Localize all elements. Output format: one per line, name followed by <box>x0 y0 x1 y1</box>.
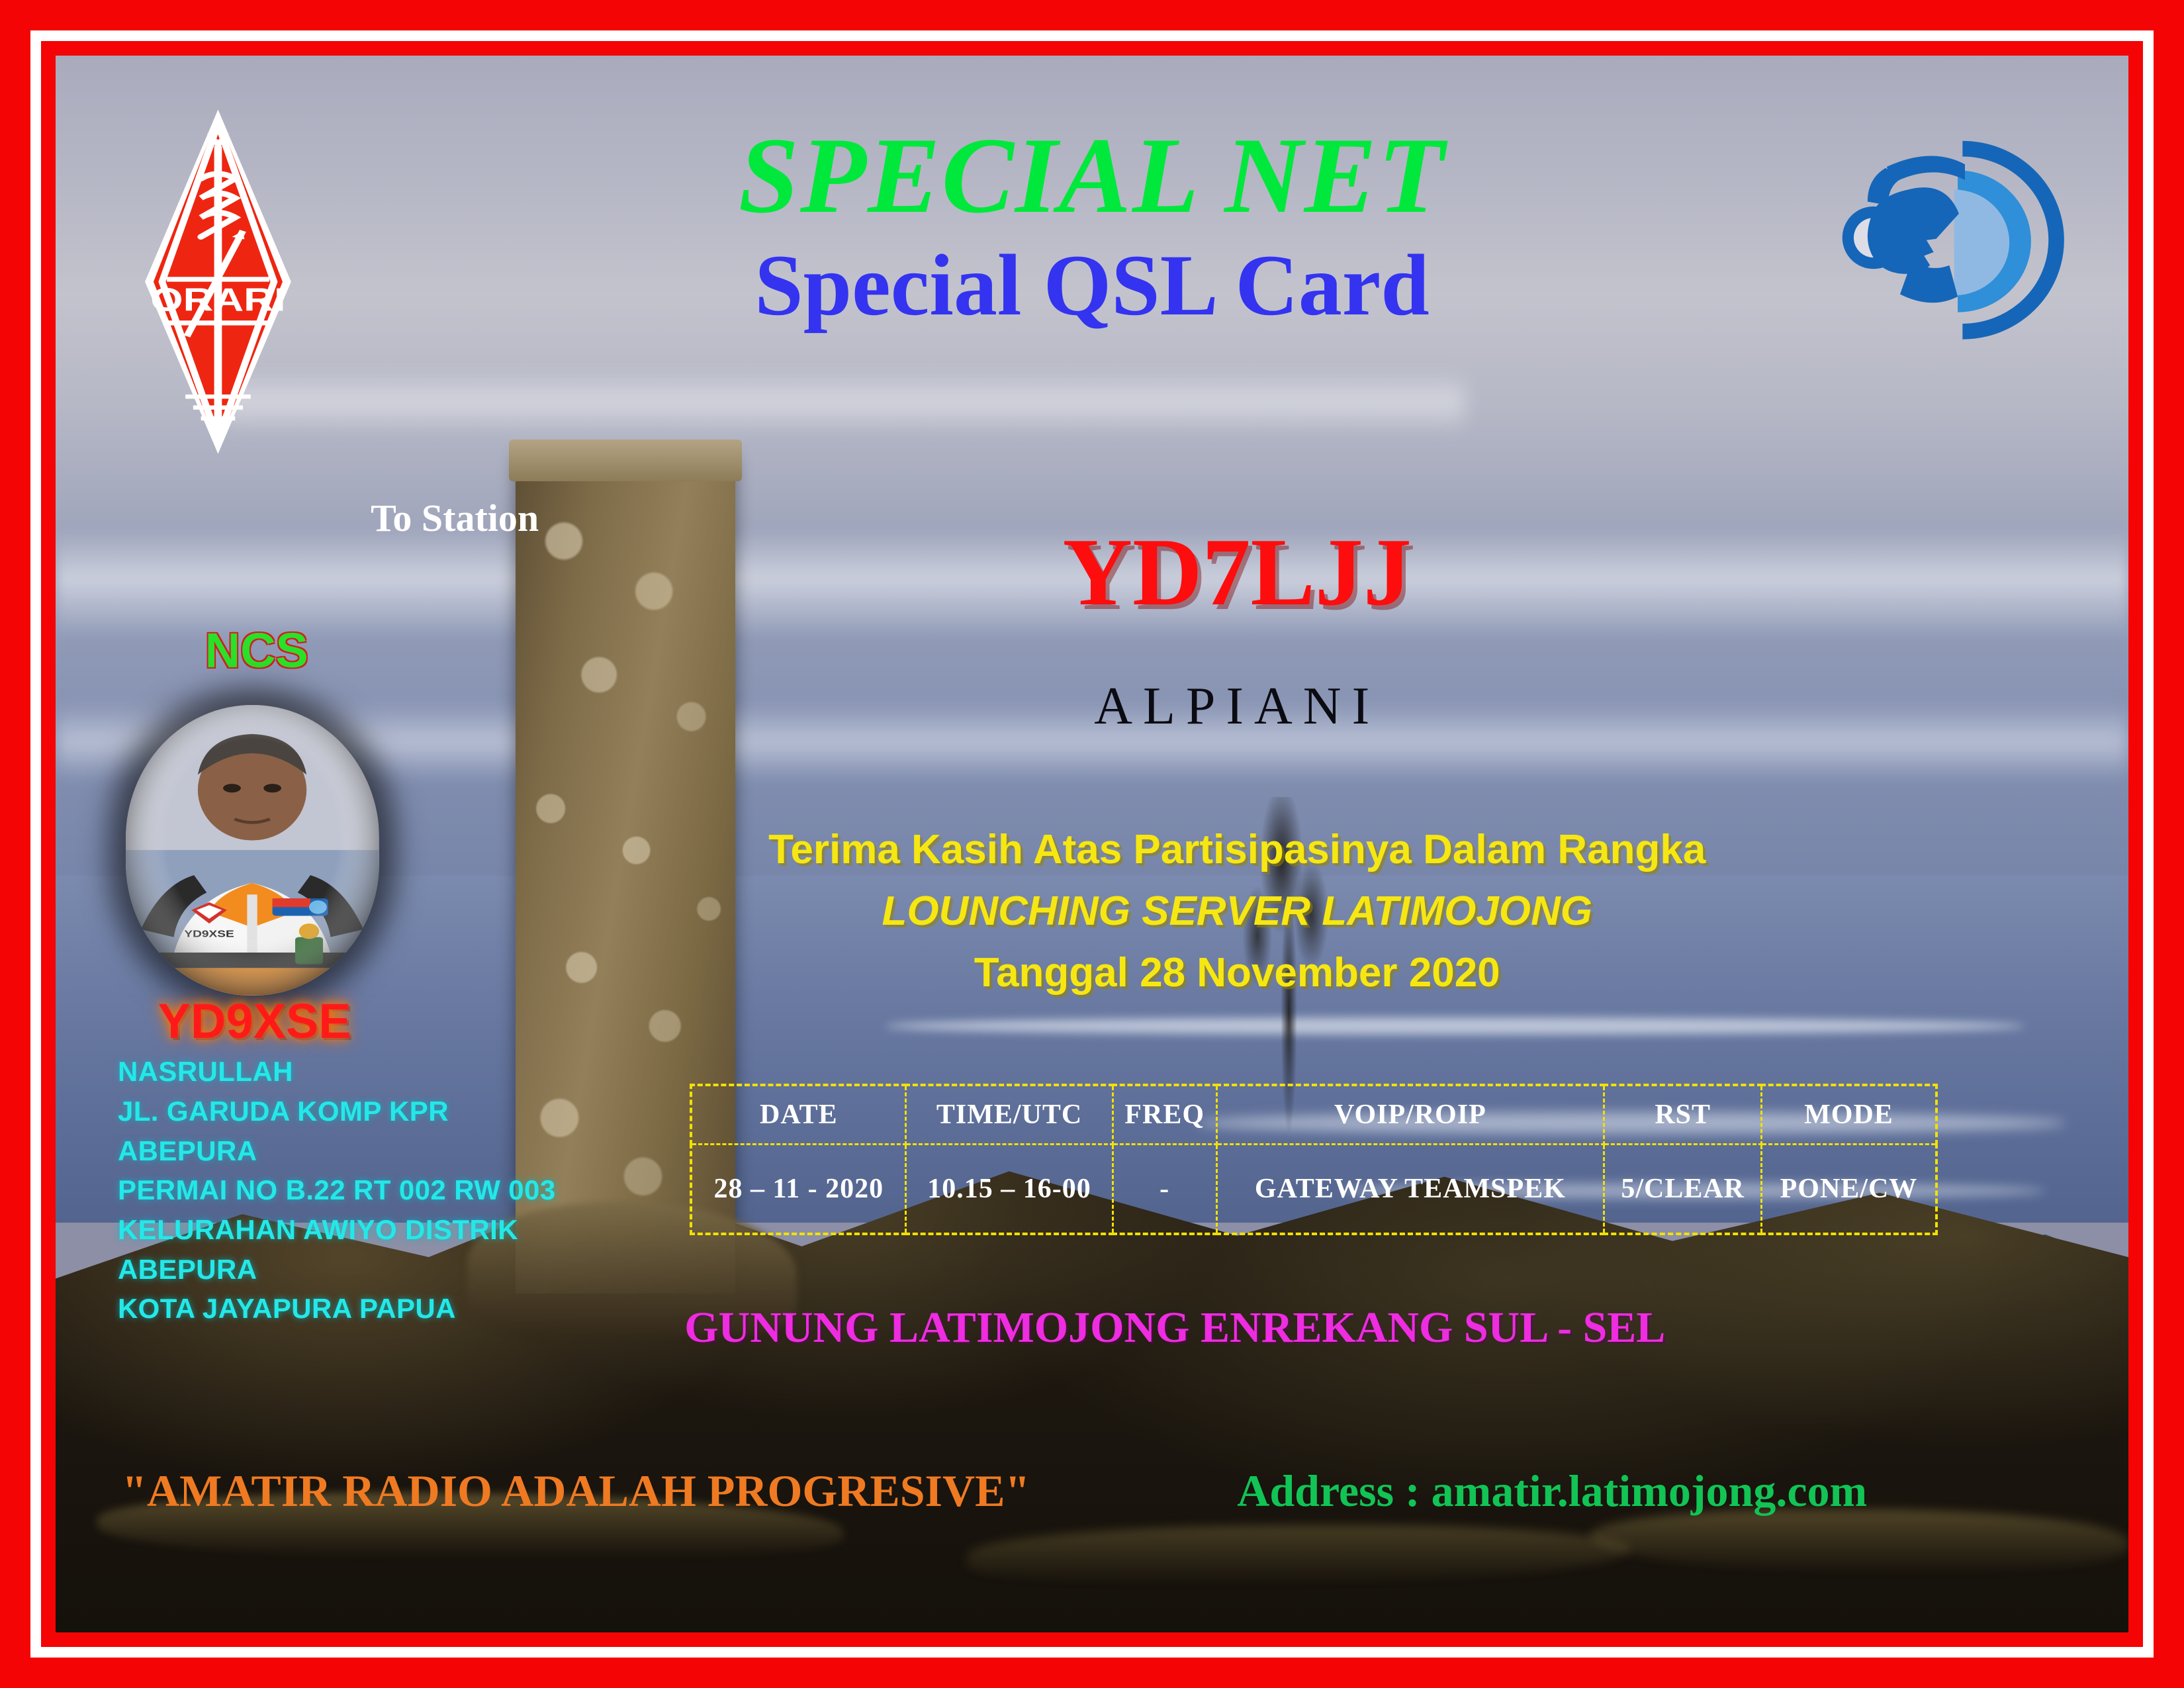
address-line: NASRULLAH <box>118 1052 657 1092</box>
address-line: PERMAI NO B.22 RT 002 RW 003 <box>118 1170 657 1210</box>
cell-rst: 5/CLEAR <box>1604 1145 1762 1234</box>
table-row: 28 – 11 - 2020 10.15 – 16-00 - GATEWAY T… <box>691 1145 1936 1234</box>
recipient-callsign: YD7LJJ <box>802 524 1672 620</box>
card-subtitle-special-qsl: Special QSL Card <box>56 242 2128 329</box>
qso-details-table: DATE TIME/UTC FREQ VOIP/ROIP RST MODE 28… <box>690 1084 1937 1235</box>
cell-mode: PONE/CW <box>1762 1145 1936 1234</box>
recipient-operator-name: ALPIANI <box>802 680 1672 733</box>
event-line-2: LOUNCHING SERVER LATIMOJONG <box>760 880 1714 942</box>
overlay-layer: ORARI <box>56 56 2128 1632</box>
cell-time: 10.15 – 16-00 <box>906 1145 1113 1234</box>
cell-date: 28 – 11 - 2020 <box>691 1145 905 1234</box>
address-line: JL. GARUDA KOMP KPR <box>118 1092 657 1131</box>
event-line-1: Terima Kasih Atas Partisipasinya Dalam R… <box>760 819 1714 880</box>
address-line: KELURAHAN AWIYO DISTRIK <box>118 1210 657 1250</box>
footer-web-address: Address : amatir.latimojong.com <box>1237 1468 1867 1513</box>
qsl-card-inner-border: ORARI <box>41 41 2143 1647</box>
column-header-date: DATE <box>691 1085 905 1145</box>
cell-voip: GATEWAY TEAMSPEK <box>1216 1145 1604 1234</box>
cell-freq: - <box>1113 1145 1216 1234</box>
summit-location-label: GUNUNG LATIMOJONG ENREKANG SUL - SEL <box>636 1306 1714 1350</box>
ncs-operator-photo: YD9XSE <box>126 705 379 995</box>
qsl-card-white-band: ORARI <box>30 30 2154 1658</box>
to-station-label: To Station <box>371 496 539 540</box>
column-header-time: TIME/UTC <box>906 1085 1113 1145</box>
card-title-special-net: SPECIAL NET <box>56 122 2128 230</box>
ncs-callsign: YD9XSE <box>109 997 399 1046</box>
event-message: Terima Kasih Atas Partisipasinya Dalam R… <box>760 819 1714 1004</box>
column-header-voip: VOIP/ROIP <box>1216 1085 1604 1145</box>
column-header-rst: RST <box>1604 1085 1762 1145</box>
column-header-mode: MODE <box>1762 1085 1936 1145</box>
table-header-row: DATE TIME/UTC FREQ VOIP/ROIP RST MODE <box>691 1085 1936 1145</box>
address-line: ABEPURA <box>118 1131 657 1171</box>
qsl-card-outer-border: ORARI <box>0 0 2184 1688</box>
column-header-freq: FREQ <box>1113 1085 1216 1145</box>
mailing-address: NASRULLAH JL. GARUDA KOMP KPR ABEPURA PE… <box>118 1052 657 1328</box>
address-line: ABEPURA <box>118 1250 657 1289</box>
event-line-3: Tanggal 28 November 2020 <box>760 942 1714 1004</box>
card-background-photo: ORARI <box>56 56 2128 1632</box>
address-line: KOTA JAYAPURA PAPUA <box>118 1289 657 1329</box>
footer-motto: "AMATIR RADIO ADALAH PROGRESIVE" <box>122 1468 1030 1513</box>
ncs-label: NCS <box>163 626 350 675</box>
